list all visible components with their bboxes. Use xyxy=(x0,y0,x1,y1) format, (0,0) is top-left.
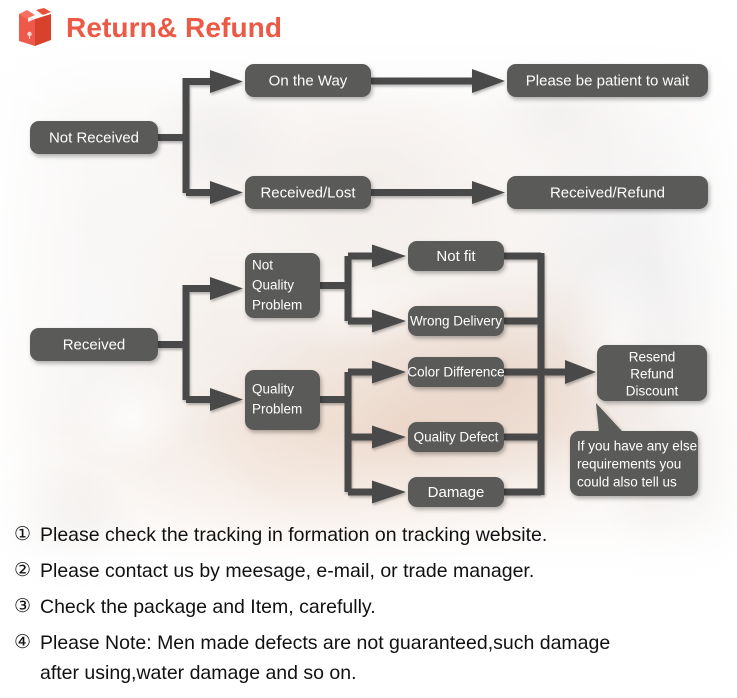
flow-nodes: Not Received On the Way Received/Lost Pl… xyxy=(30,64,708,507)
node-received-refund[interactable]: Received/Refund xyxy=(507,176,708,209)
callout-line-2: requirements you xyxy=(577,457,681,472)
connectors-received xyxy=(158,277,243,411)
node-quality-problem[interactable]: Quality Problem xyxy=(245,370,320,430)
node-label: Not Received xyxy=(49,129,139,146)
node-received-lost[interactable]: Received/Lost xyxy=(245,176,371,209)
node-on-the-way[interactable]: On the Way xyxy=(245,64,371,97)
node-received[interactable]: Received xyxy=(30,328,158,361)
node-label-line-2: Problem xyxy=(252,402,302,417)
connectors-quality-problem xyxy=(320,361,406,504)
note-text-continued: after using,water damage and so on. xyxy=(40,658,723,688)
note-number: ③ xyxy=(14,592,40,622)
connectors-not-quality-problem xyxy=(320,245,406,333)
note-item-3: ③ Check the package and Item, carefully. xyxy=(14,592,723,622)
node-resend-refund-discount[interactable]: Resend Refund Discount xyxy=(597,345,707,401)
node-label-line-1: Quality xyxy=(252,382,294,397)
note-number: ④ xyxy=(14,628,40,658)
node-label-line-1: Not xyxy=(252,258,273,273)
node-label: Received/Refund xyxy=(550,184,665,201)
notes-list: ① Please check the tracking in formation… xyxy=(0,520,737,694)
node-not-received[interactable]: Not Received xyxy=(30,121,158,154)
node-not-quality-problem[interactable]: Not Quality Problem xyxy=(245,253,320,318)
note-text: Please check the tracking in formation o… xyxy=(40,520,723,550)
node-label: On the Way xyxy=(269,72,348,89)
page-title: Return& Refund xyxy=(66,14,282,42)
node-quality-defect[interactable]: Quality Defect xyxy=(408,422,504,452)
node-label: Not fit xyxy=(436,248,476,265)
node-label: Quality Defect xyxy=(414,430,499,445)
node-label-line-1: Resend xyxy=(629,350,676,365)
node-label-line-2: Refund xyxy=(630,367,674,382)
node-please-be-patient-to-wait[interactable]: Please be patient to wait xyxy=(507,64,708,97)
node-label: Please be patient to wait xyxy=(526,72,690,89)
note-text: Check the package and Item, carefully. xyxy=(40,592,723,622)
node-damage[interactable]: Damage xyxy=(408,477,504,507)
note-text: Please Note: Men made defects are not gu… xyxy=(40,628,723,658)
node-label: Wrong Delivery xyxy=(410,314,502,329)
return-refund-infographic: Return& Refund xyxy=(0,0,737,698)
node-label: Color Difference xyxy=(407,365,504,380)
callout-line-1: If you have any else xyxy=(577,439,697,454)
node-label-line-2: Quality xyxy=(252,278,294,293)
note-item-4: ④ Please Note: Men made defects are not … xyxy=(14,628,723,688)
note-text-block: Please Note: Men made defects are not gu… xyxy=(40,628,723,688)
node-label-line-3: Discount xyxy=(626,384,679,399)
node-label: Received/Lost xyxy=(260,184,356,201)
note-text: Please contact us by meesage, e-mail, or… xyxy=(40,556,723,586)
node-color-difference[interactable]: Color Difference xyxy=(407,357,504,387)
node-label-line-3: Problem xyxy=(252,298,302,313)
package-box-icon xyxy=(16,8,54,48)
note-number: ① xyxy=(14,520,40,550)
note-item-1: ① Please check the tracking in formation… xyxy=(14,520,723,550)
note-item-2: ② Please contact us by meesage, e-mail, … xyxy=(14,556,723,586)
callout-line-3: could also tell us xyxy=(577,475,677,490)
node-label: Received xyxy=(63,336,126,353)
node-label: Damage xyxy=(428,484,485,501)
callout-extra-requirements[interactable]: If you have any else requirements you co… xyxy=(570,403,698,496)
note-number: ② xyxy=(14,556,40,586)
header: Return& Refund xyxy=(0,0,737,56)
node-not-fit[interactable]: Not fit xyxy=(408,241,504,271)
node-wrong-delivery[interactable]: Wrong Delivery xyxy=(408,306,504,336)
